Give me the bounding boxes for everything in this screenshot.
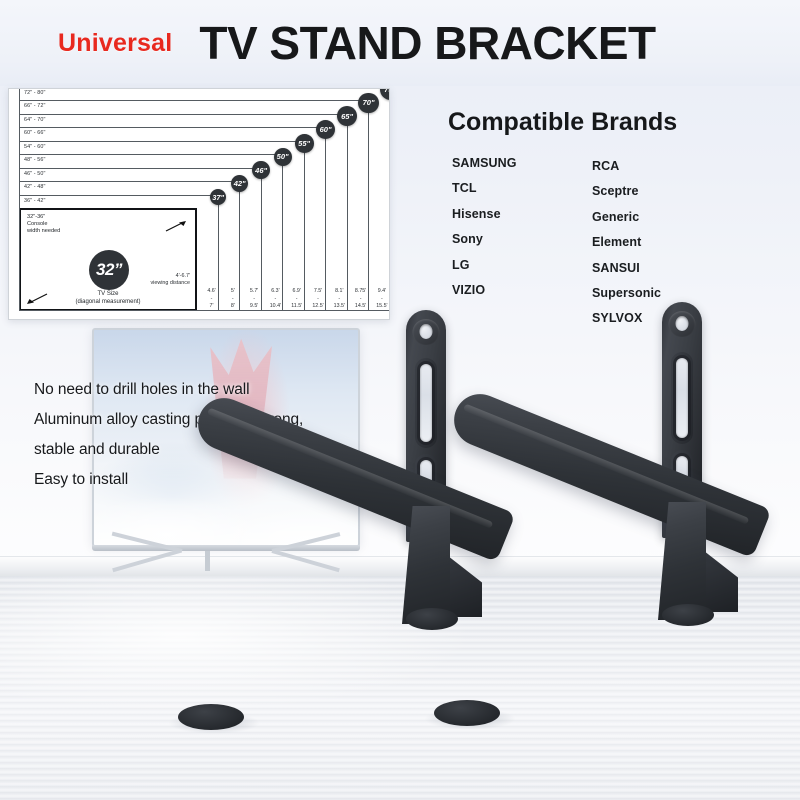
viewing-distance-max: 10.4' (270, 303, 281, 311)
left-bracket-rear-foot (406, 608, 458, 630)
viewing-distance-max: 9.5' (250, 303, 258, 311)
viewing-distance-dash: - (317, 296, 319, 304)
viewing-distance-min: 7.5' (314, 288, 322, 296)
right-bracket-rear-foot (662, 604, 714, 626)
viewing-distance-max: 7' (210, 303, 214, 311)
viewing-distance-max: 14.5' (355, 303, 366, 311)
size-badge-46: 46" (252, 161, 270, 179)
viewing-distance-min: 5' (231, 288, 235, 296)
viewing-distance-min: 9.4' (378, 288, 386, 296)
size-chart-row-1: 36" - 42" (19, 195, 219, 312)
brand-sceptre: Sceptre (592, 184, 661, 198)
size-chart-row-label: 60" - 66" (24, 130, 46, 136)
brand-lg: LG (452, 258, 517, 272)
viewing-distance-min: 4.6' (207, 288, 215, 296)
header-banner: Universal TV STAND BRACKET (0, 0, 800, 86)
viewing-distance-max: 8' (231, 303, 235, 311)
left-bracket-front-foot (178, 704, 244, 730)
viewing-distance-dash: - (381, 296, 383, 304)
compatible-brands-title: Compatible Brands (448, 108, 677, 137)
right-bracket-front-foot (434, 700, 500, 726)
viewing-distance-min: 8.1' (335, 288, 343, 296)
size-chart-row-label: 64" - 70" (24, 117, 46, 123)
brand-vizio: VIZIO (452, 283, 517, 297)
size-chart-row-label: 66" - 72" (24, 103, 46, 109)
size-chart-row-label: 46" - 50" (24, 171, 46, 177)
viewing-distance-column: 8.1'-13.5' (329, 267, 350, 311)
viewing-distance-column: 8.75'-14.5' (350, 267, 371, 311)
viewing-distance-column: 5.7'-9.5' (244, 267, 265, 311)
product-marketing-image: Universal TV STAND BRACKET 72" - 80"66" … (0, 0, 800, 800)
brand-hisense: Hisense (452, 207, 517, 221)
page-title: TV STAND BRACKET (199, 16, 655, 70)
viewing-distance-dash: - (296, 296, 298, 304)
brand-rca: RCA (592, 159, 661, 173)
size-badge-55: 55" (295, 134, 314, 153)
size-chart-row-label: 72" - 80" (24, 90, 46, 96)
brand-generic: Generic (592, 210, 661, 224)
viewing-distance-max: 11.5' (291, 303, 302, 311)
left-post-slot-upper (420, 364, 432, 442)
right-post-top-hole (676, 316, 689, 331)
viewing-distance-max: 13.5' (334, 303, 345, 311)
viewing-distance-column: 6.3'-10.4' (265, 267, 286, 311)
tv-center-stem (205, 551, 210, 571)
viewing-distance-column: 9.4'-15.5' (371, 267, 390, 311)
brand-samsung: SAMSUNG (452, 156, 517, 170)
size-chart-row-label: 36" - 42" (24, 198, 46, 204)
right-post-slot-upper (676, 358, 688, 438)
size-chart-row-label: 42" - 48" (24, 184, 46, 190)
viewing-distance-min: 5.7' (250, 288, 258, 296)
brand-sony: Sony (452, 232, 517, 246)
viewing-distance-column: 4.6'-7' (201, 267, 222, 311)
viewing-distance-max: 15.5' (376, 303, 387, 311)
viewing-distance-min: 8.75' (355, 288, 366, 296)
brand-element: Element (592, 235, 661, 249)
brand-column-left: SAMSUNGTCLHisenseSonyLGVIZIO (452, 156, 517, 308)
viewing-distance-dash: - (211, 296, 213, 304)
viewing-distance-dash: - (232, 296, 234, 304)
viewing-distance-min: 6.3' (271, 288, 279, 296)
brand-supersonic: Supersonic (592, 286, 661, 300)
viewing-distance-column: 5'-8' (222, 267, 243, 311)
tv-size-chart: 72" - 80"66" - 72"64" - 70"60" - 66"54" … (8, 88, 390, 320)
brand-sylvox: SYLVOX (592, 311, 661, 325)
size-badge-50: 50" (274, 148, 292, 166)
universal-badge: Universal (58, 29, 172, 58)
left-post-top-hole (420, 324, 433, 339)
viewing-distance-dash: - (360, 296, 362, 304)
size-chart-row-label: 54" - 60" (24, 144, 46, 150)
viewing-distance-column: 7.5'-12.5' (308, 267, 329, 311)
viewing-distance-dash: - (275, 296, 277, 304)
brand-sansui: SANSUI (592, 261, 661, 275)
tv-bottom-bezel (92, 545, 360, 551)
viewing-distance-column: 6.9'-11.5' (286, 267, 307, 311)
viewing-distance-max: 12.5' (312, 303, 323, 311)
size-badge-70: 70" (358, 93, 378, 113)
viewing-distance-dash: - (338, 296, 340, 304)
size-chart-row-label: 48" - 56" (24, 157, 46, 163)
brand-tcl: TCL (452, 181, 517, 195)
viewing-distance-dash: - (253, 296, 255, 304)
brand-column-right: RCASceptreGenericElementSANSUISupersonic… (592, 159, 661, 337)
viewing-distance-min: 6.9' (293, 288, 301, 296)
